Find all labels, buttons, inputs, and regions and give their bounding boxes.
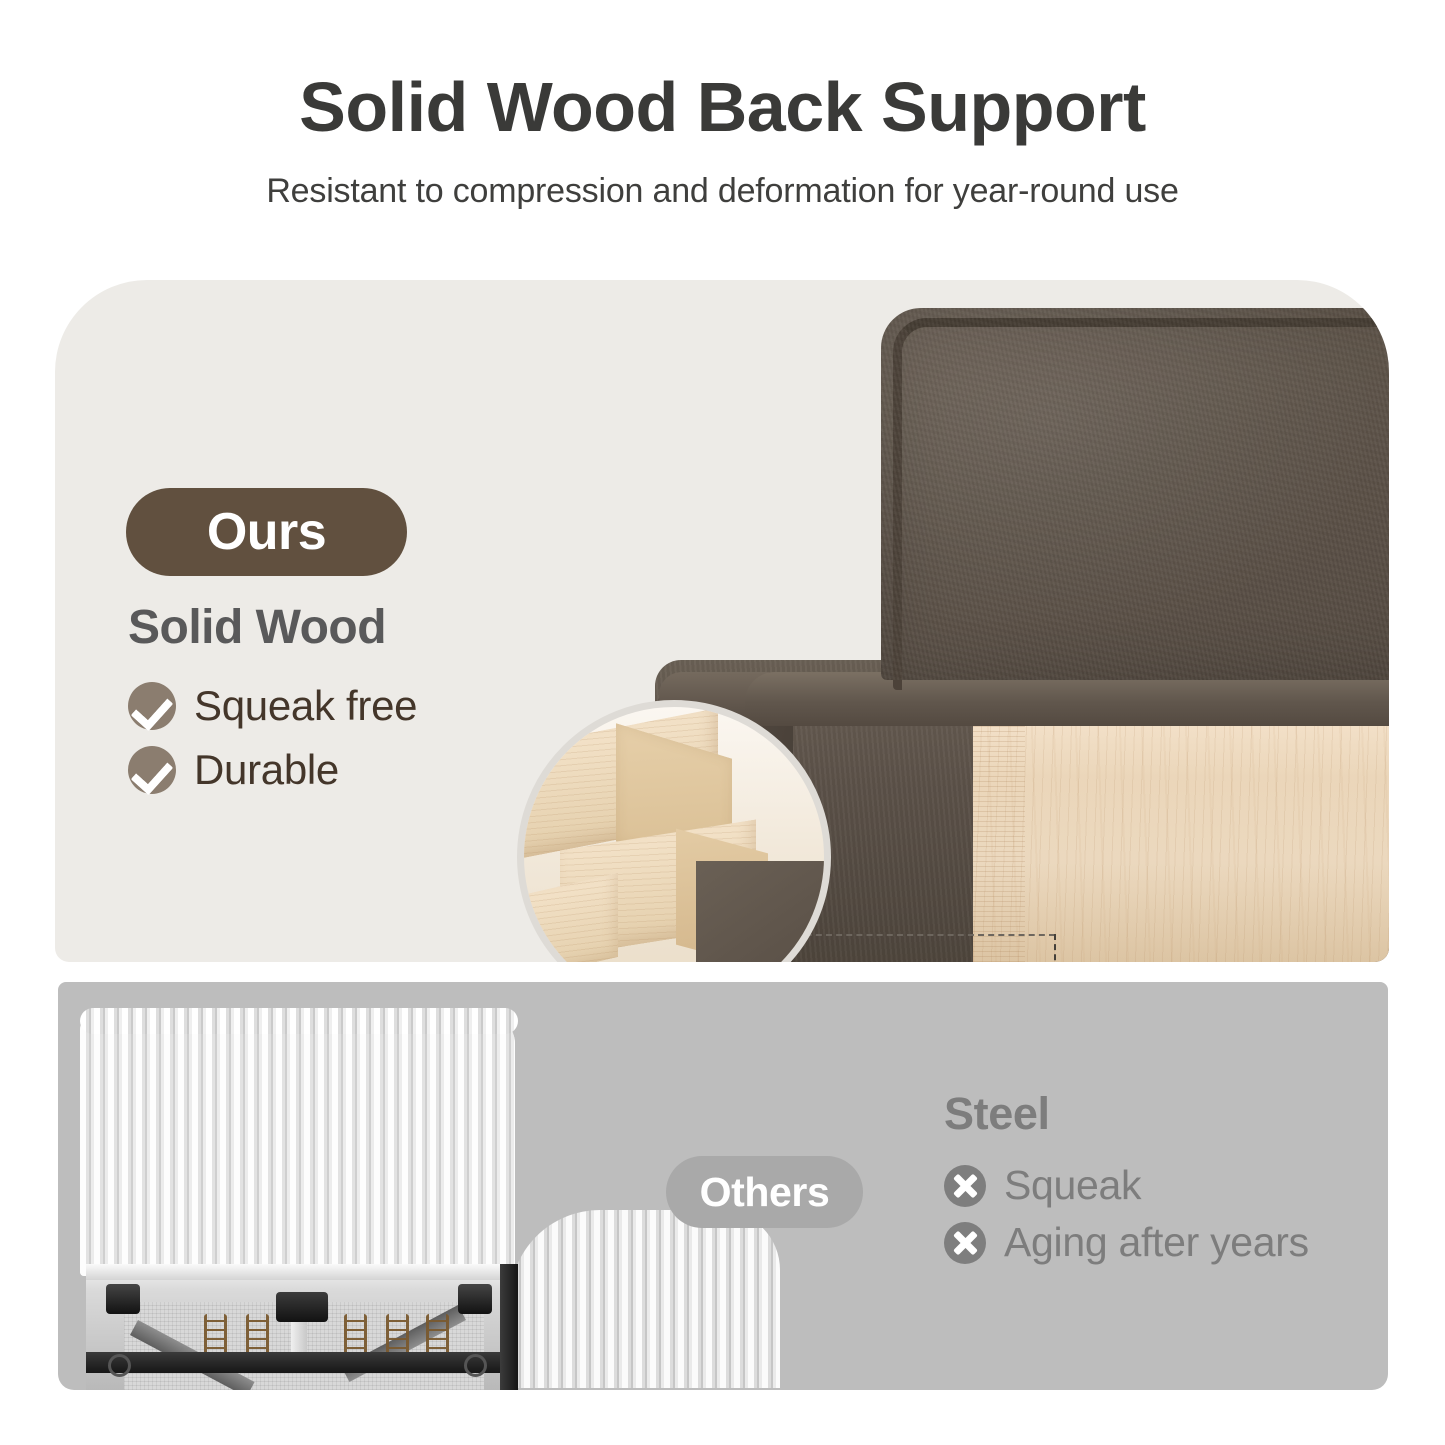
x-icon bbox=[944, 1222, 986, 1264]
ours-material-label: Solid Wood bbox=[128, 600, 386, 655]
corduroy-rib-texture bbox=[80, 1014, 515, 1276]
page-subtitle: Resistant to compression and deformation… bbox=[0, 142, 1445, 211]
others-feature-label: Aging after years bbox=[1004, 1219, 1309, 1266]
list-item: Aging after years bbox=[944, 1219, 1309, 1266]
mechanism-bottom-rail bbox=[86, 1352, 518, 1373]
sofa-back-cushion bbox=[881, 308, 1389, 680]
mechanism-top-rail bbox=[86, 1264, 518, 1280]
ours-badge-label: Ours bbox=[207, 506, 326, 558]
wood-end-grain bbox=[973, 698, 1025, 962]
page-title: Solid Wood Back Support bbox=[0, 72, 1445, 142]
wood-block-small bbox=[517, 873, 618, 962]
mechanism-bracket bbox=[458, 1284, 492, 1314]
check-icon bbox=[128, 682, 176, 730]
cushion-fabric-texture bbox=[881, 308, 1389, 680]
mechanism-pivot bbox=[108, 1354, 131, 1377]
mechanism-pivot bbox=[464, 1354, 487, 1377]
header: Solid Wood Back Support Resistant to com… bbox=[0, 0, 1445, 211]
ours-badge: Ours bbox=[126, 488, 407, 576]
others-material-label: Steel bbox=[944, 1088, 1050, 1140]
others-feature-list: Squeak Aging after years bbox=[944, 1162, 1309, 1266]
ours-feature-list: Squeak free Durable bbox=[128, 682, 417, 794]
list-item: Squeak bbox=[944, 1162, 1309, 1209]
mechanism-motor bbox=[276, 1292, 328, 1322]
corduroy-top-roll bbox=[80, 1008, 518, 1034]
wood-grain-texture bbox=[973, 698, 1389, 962]
steel-mechanism bbox=[86, 1264, 518, 1390]
list-item: Squeak free bbox=[128, 682, 417, 730]
others-badge-label: Others bbox=[700, 1172, 830, 1213]
list-item: Durable bbox=[128, 746, 417, 794]
ours-feature-label: Squeak free bbox=[194, 682, 417, 730]
inset-sofa-edge bbox=[696, 861, 828, 962]
others-feature-label: Squeak bbox=[1004, 1162, 1141, 1209]
others-badge: Others bbox=[666, 1156, 863, 1228]
solid-wood-frame-panel bbox=[973, 698, 1389, 962]
callout-line-vertical bbox=[1054, 934, 1056, 962]
mechanism-side-rail bbox=[500, 1264, 518, 1390]
mechanism-bracket bbox=[106, 1284, 140, 1314]
wood-grain-texture bbox=[517, 873, 618, 962]
x-icon bbox=[944, 1165, 986, 1207]
corduroy-back-cushion bbox=[80, 1014, 515, 1276]
corduroy-armrest bbox=[510, 1210, 780, 1388]
check-icon bbox=[128, 746, 176, 794]
ours-feature-label: Durable bbox=[194, 746, 339, 794]
